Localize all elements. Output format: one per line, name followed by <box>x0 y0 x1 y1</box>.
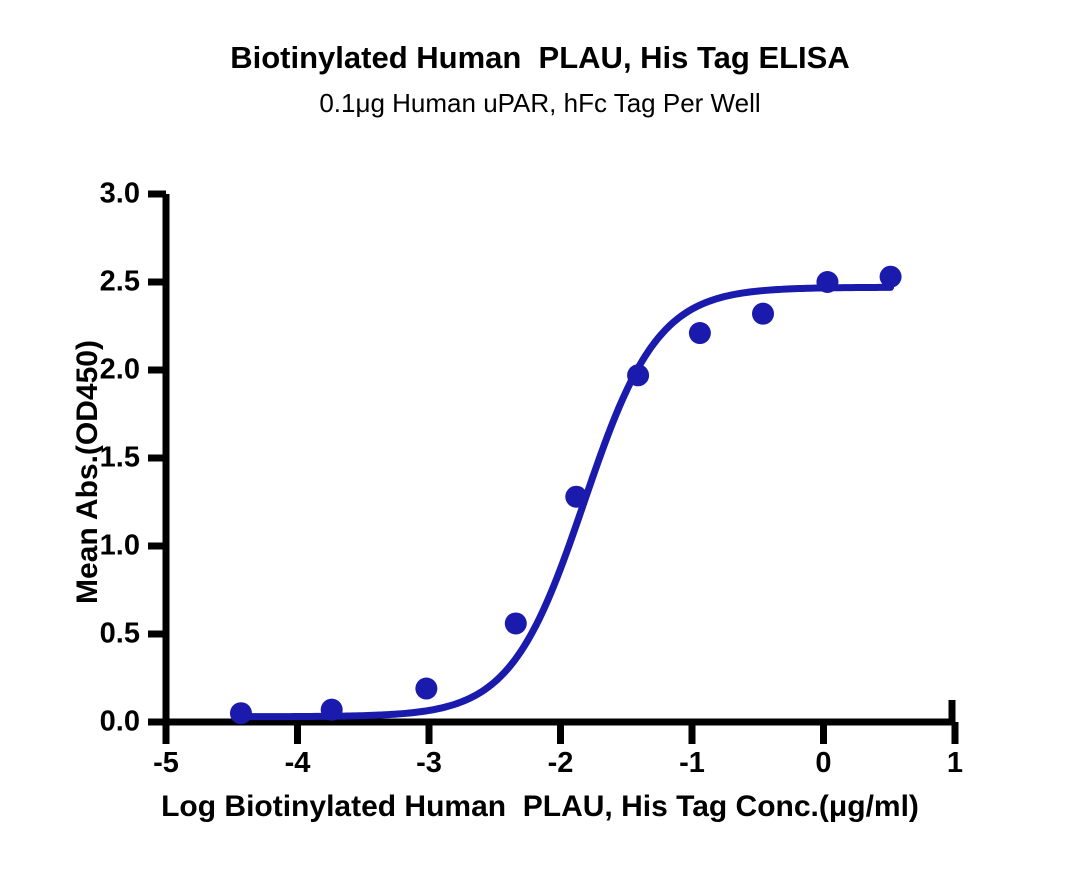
data-point <box>689 322 711 344</box>
x-tick-label: -2 <box>548 747 574 779</box>
y-axis-ticks: 0.00.51.01.52.02.53.0 <box>100 178 166 738</box>
data-point <box>415 678 437 700</box>
data-point <box>230 702 252 724</box>
x-tick-label: -5 <box>153 747 179 779</box>
elisa-chart-figure: Biotinylated Human PLAU, His Tag ELISA 0… <box>0 0 1080 873</box>
x-tick-label: -3 <box>416 747 442 779</box>
plot-area: 0.00.51.01.52.02.53.0 -5-4-3-2-101 <box>0 0 1080 873</box>
data-point <box>321 699 343 721</box>
y-tick-label: 2.0 <box>100 354 140 386</box>
y-tick-label: 0.0 <box>100 706 140 738</box>
data-point <box>752 303 774 325</box>
y-tick-label: 3.0 <box>100 178 140 210</box>
y-tick-label: 1.5 <box>100 442 140 474</box>
data-point <box>565 486 587 508</box>
data-point <box>880 266 902 288</box>
data-points <box>230 266 902 724</box>
y-tick-label: 2.5 <box>100 266 140 298</box>
y-tick-label: 0.5 <box>100 618 140 650</box>
data-point <box>816 271 838 293</box>
data-point <box>627 364 649 386</box>
sigmoid-fit-curve <box>241 287 891 716</box>
x-tick-label: 0 <box>815 747 831 779</box>
x-tick-label: -1 <box>679 747 705 779</box>
axes <box>163 194 955 722</box>
data-point <box>505 612 527 634</box>
y-tick-label: 1.0 <box>100 530 140 562</box>
x-axis-ticks: -5-4-3-2-101 <box>153 722 963 779</box>
x-tick-label: -4 <box>285 747 311 779</box>
x-tick-label: 1 <box>947 747 963 779</box>
